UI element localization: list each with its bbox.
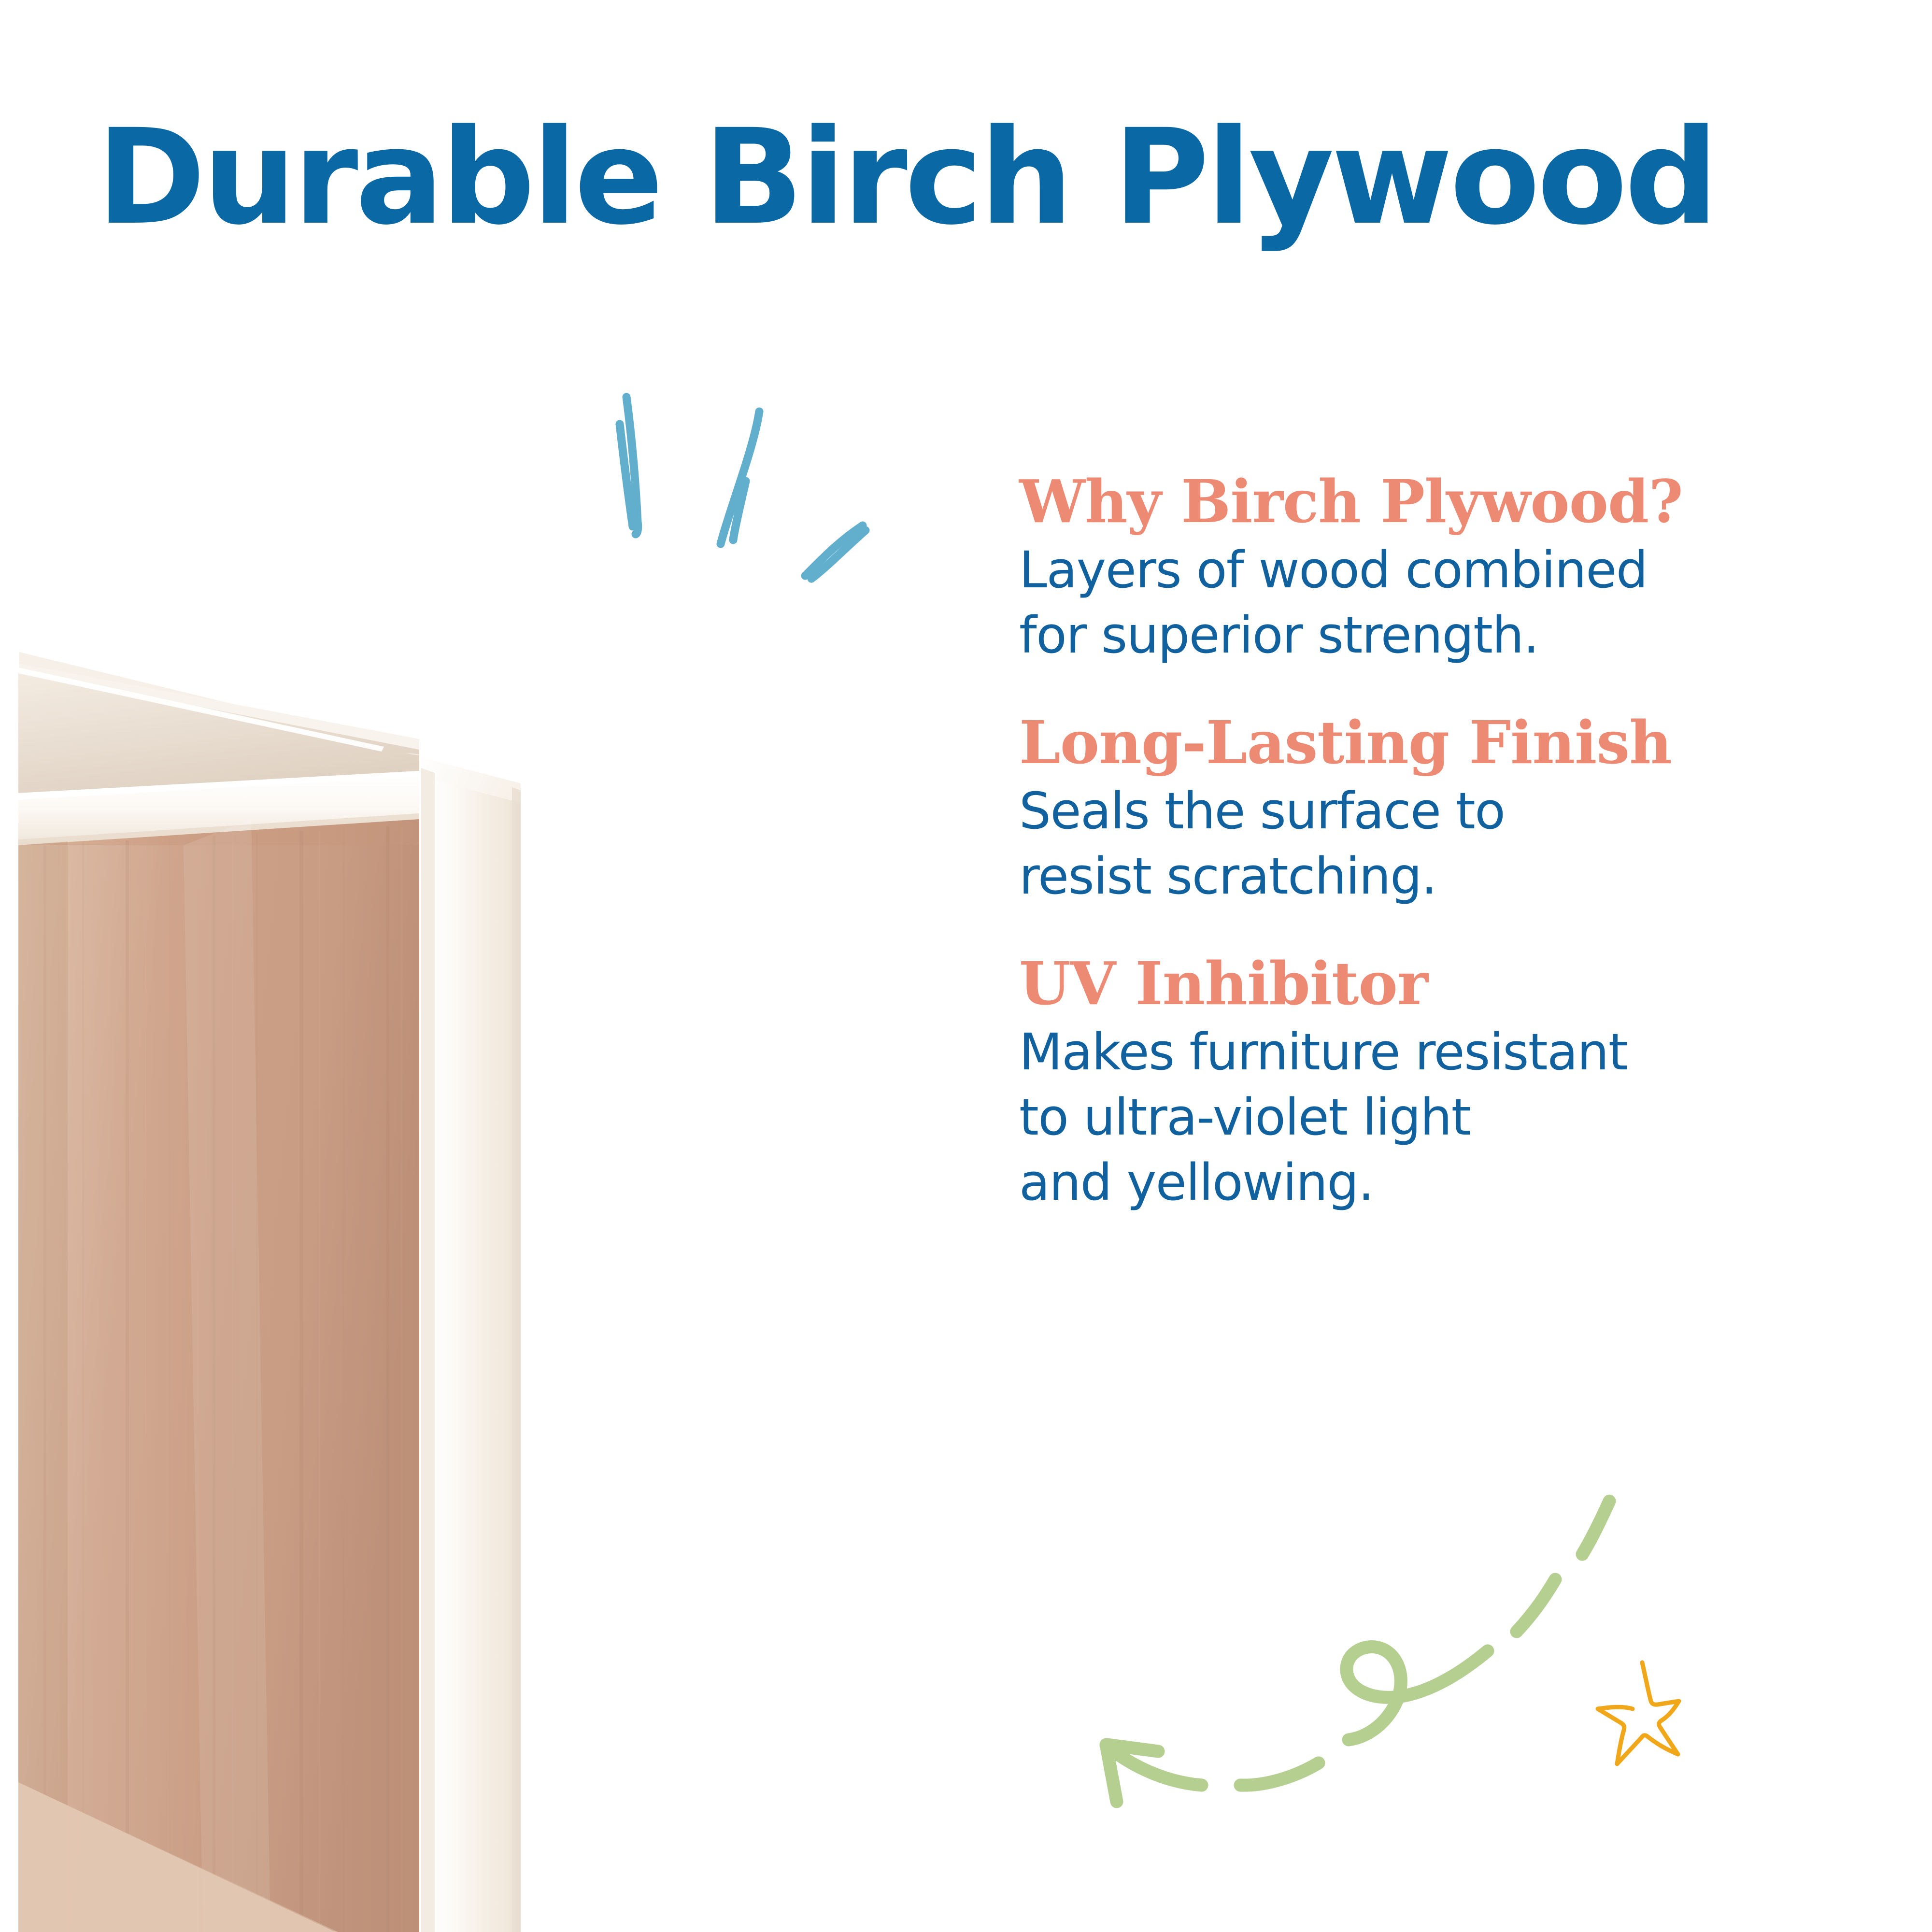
infographic-canvas: Durable Birch Plywood: [0, 0, 1932, 1932]
feature-heading: Why Birch Plywood?: [1019, 469, 1869, 535]
feature-block-uv-inhibitor: UV Inhibitor Makes furniture resistant t…: [1019, 951, 1869, 1215]
feature-heading: UV Inhibitor: [1019, 951, 1869, 1017]
feature-body-line: Seals the surface to: [1019, 779, 1869, 844]
curved-dashed-arrow-icon: [1034, 1444, 1628, 1845]
feature-body-line: to ultra-violet light: [1019, 1085, 1869, 1150]
feature-block-why-birch-plywood: Why Birch Plywood? Layers of wood combin…: [1019, 469, 1869, 668]
page-title: Durable Birch Plywood: [97, 111, 1884, 245]
sparkle-lines-icon: [589, 386, 927, 589]
product-photo: [0, 478, 869, 1932]
feature-body-line: resist scratching.: [1019, 844, 1869, 909]
feature-body-line: and yellowing.: [1019, 1150, 1869, 1215]
star-outline-icon: [1584, 1628, 1753, 1797]
feature-body-line: Layers of wood combined: [1019, 538, 1869, 603]
feature-body-line: for superior strength.: [1019, 603, 1869, 668]
feature-list: Why Birch Plywood? Layers of wood combin…: [1019, 469, 1869, 1215]
feature-heading: Long-Lasting Finish: [1019, 710, 1869, 776]
feature-body-line: Makes furniture resistant: [1019, 1020, 1869, 1085]
feature-block-long-lasting-finish: Long-Lasting Finish Seals the surface to…: [1019, 710, 1869, 909]
